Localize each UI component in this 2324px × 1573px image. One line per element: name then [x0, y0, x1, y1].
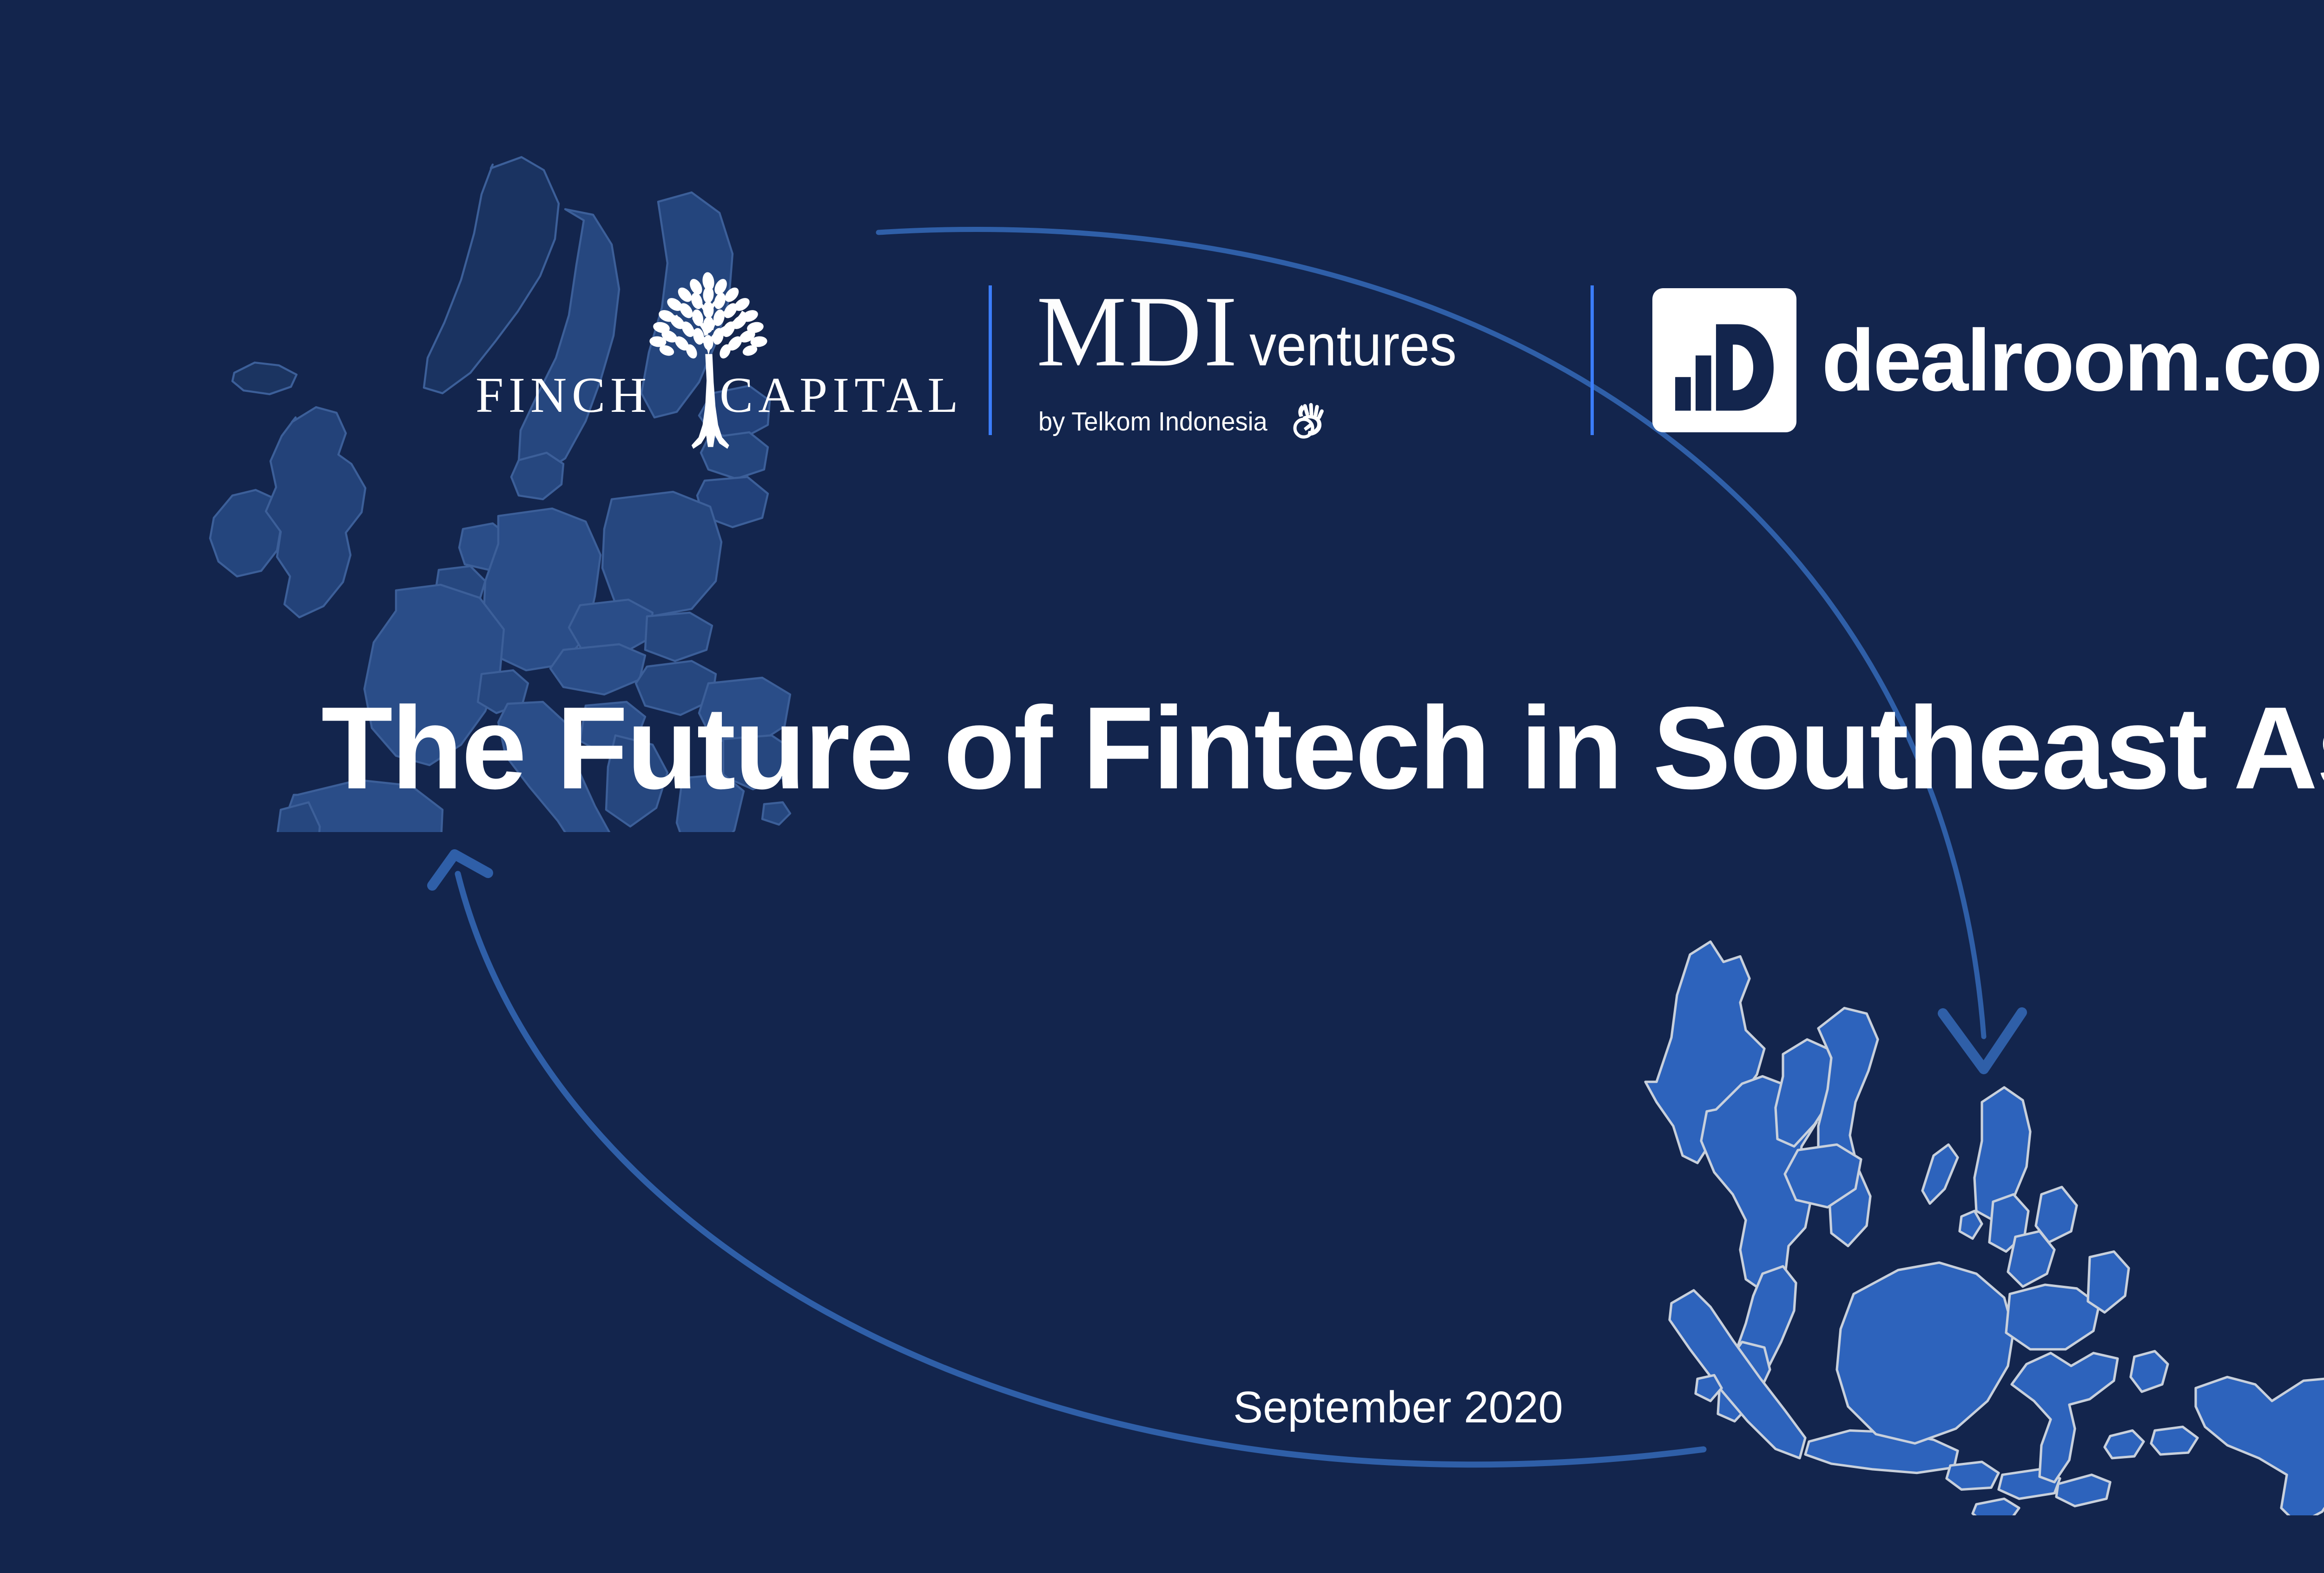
telkom-hand-icon: [1292, 403, 1325, 440]
logo-finch-capital[interactable]: FINCHCAPITAL: [475, 260, 940, 460]
tree-icon: [641, 267, 776, 453]
capital-word: CAPITAL: [720, 368, 963, 423]
logo-divider-1: [989, 285, 992, 435]
mdi-wordmark: MDI: [1037, 281, 1239, 383]
logo-divider-2: [1591, 285, 1594, 435]
dealroom-wordmark: dealroom.co: [1822, 317, 2321, 404]
dealroom-bar-chart-d-icon: [1652, 288, 1796, 432]
arrow-down-icon: [1943, 1012, 2022, 1069]
finch-capital-wordmark: FINCHCAPITAL: [475, 370, 940, 421]
logo-dealroom-co[interactable]: dealroom.co: [1652, 260, 2321, 460]
mdi-byline: by Telkom Indonesia: [1038, 409, 1268, 435]
finch-word: FINCH: [475, 368, 652, 423]
slide-date: September 2020: [0, 1385, 2324, 1430]
logo-mdi-ventures[interactable]: MDI ventures by Telkom Indonesia: [1037, 260, 1538, 460]
page-title: The Future of Fintech in Southeast Asia: [0, 683, 2324, 814]
partner-logo-bar: FINCHCAPITAL MDI ventures by Telkom Indo…: [0, 260, 2324, 460]
title-slide: FINCHCAPITAL MDI ventures by Telkom Indo…: [0, 0, 2324, 1573]
ventures-wordmark: ventures: [1249, 317, 1457, 375]
arrow-up-icon: [432, 854, 488, 886]
